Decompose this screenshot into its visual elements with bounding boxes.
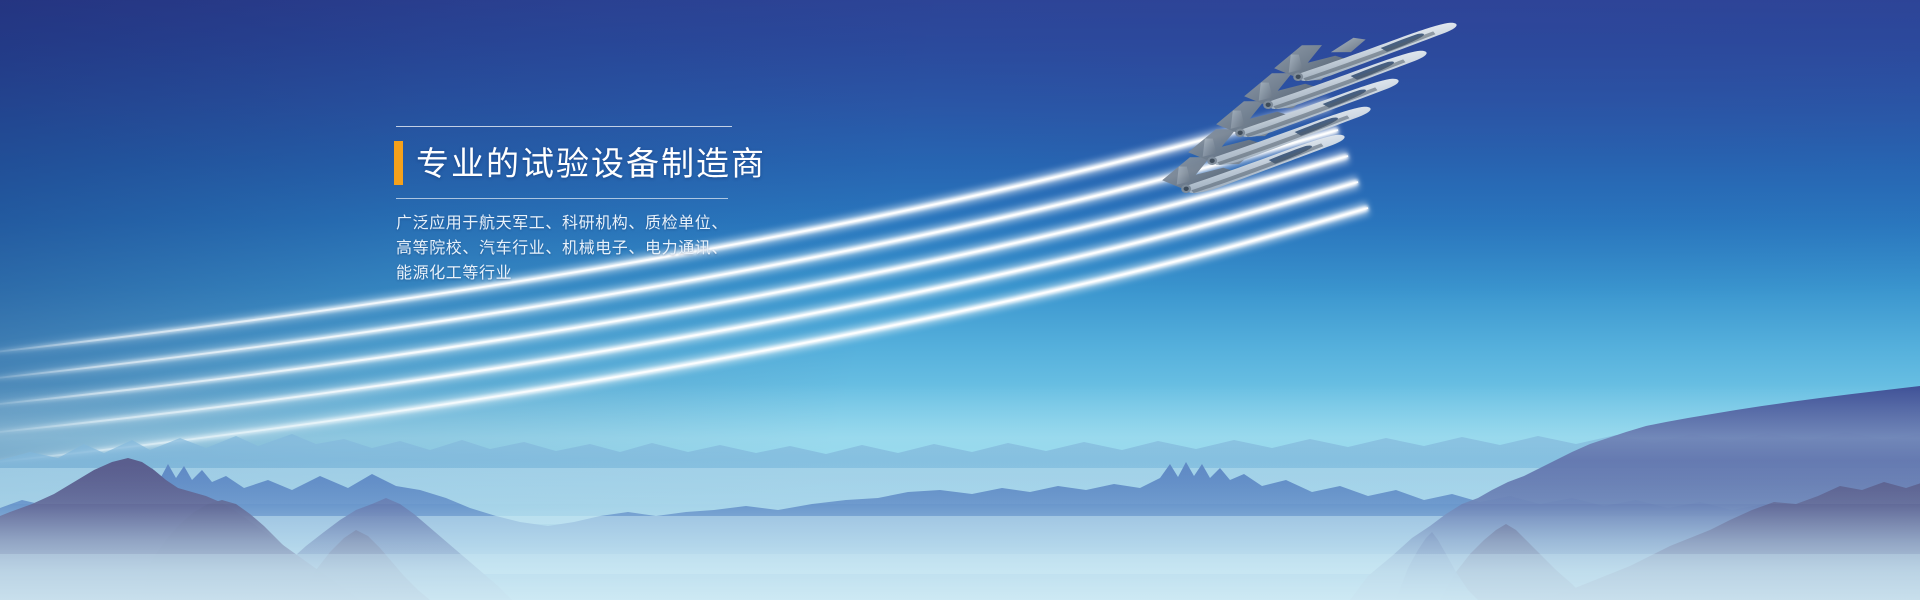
- subtitle-line-1: 广泛应用于航天军工、科研机构、质检单位、: [396, 211, 744, 236]
- accent-bar: [394, 141, 403, 185]
- mountain-range: [0, 340, 1920, 600]
- headline-row: 专业的试验设备制造商: [394, 134, 744, 192]
- banner-subtitle: 广泛应用于航天军工、科研机构、质检单位、 高等院校、汽车行业、机械电子、电力通讯…: [396, 211, 744, 286]
- headline-rule-top: [396, 126, 732, 127]
- headline-rule-bottom: [396, 198, 728, 199]
- subtitle-line-2: 高等院校、汽车行业、机械电子、电力通讯、: [396, 236, 744, 261]
- banner-copy-block: 专业的试验设备制造商 广泛应用于航天军工、科研机构、质检单位、 高等院校、汽车行…: [394, 126, 744, 286]
- subtitle-line-3: 能源化工等行业: [396, 261, 744, 286]
- hero-banner: 专业的试验设备制造商 广泛应用于航天军工、科研机构、质检单位、 高等院校、汽车行…: [0, 0, 1920, 600]
- page-title: 专业的试验设备制造商: [416, 147, 766, 180]
- fighter-jet-formation-icon: [1125, 42, 1505, 257]
